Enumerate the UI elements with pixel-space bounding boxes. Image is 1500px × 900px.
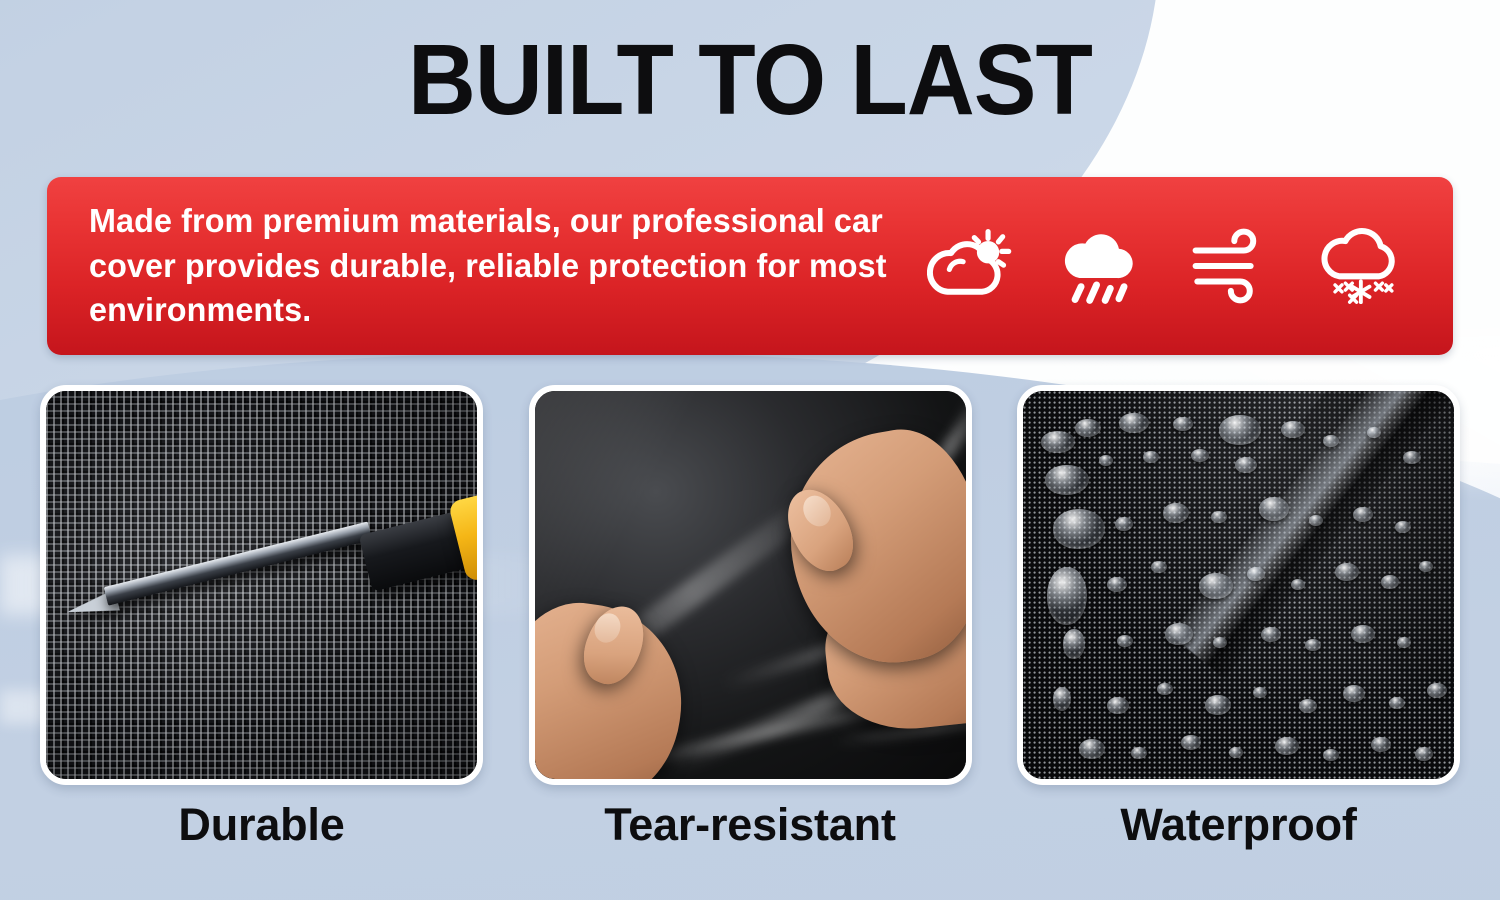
feature-caption-waterproof: Waterproof: [1017, 799, 1460, 851]
water-droplet: [1163, 503, 1189, 523]
water-droplet: [1107, 577, 1127, 592]
water-droplet: [1053, 687, 1071, 711]
water-droplet: [1353, 507, 1373, 522]
water-droplet: [1173, 417, 1193, 431]
water-droplet: [1119, 413, 1149, 433]
woven-mesh-fabric-with-screwdriver-photo: [40, 385, 483, 785]
water-droplet: [1199, 573, 1233, 599]
water-droplet: [1165, 623, 1193, 645]
water-droplet: [1281, 421, 1305, 438]
water-droplet: [1079, 739, 1105, 759]
feature-caption-durable: Durable: [40, 799, 483, 851]
snow-cloud-icon: [1317, 226, 1403, 306]
water-droplet: [1299, 699, 1317, 713]
banner-text: Made from premium materials, our profess…: [89, 199, 910, 334]
feature-card-row: Durable: [40, 385, 1460, 851]
feature-caption-tear-resistant: Tear-resistant: [529, 799, 972, 851]
water-droplet: [1261, 627, 1281, 642]
hands-stretching-black-fabric-photo: [529, 385, 972, 785]
water-droplet: [1389, 697, 1405, 709]
water-droplet: [1403, 451, 1421, 464]
water-droplet: [1115, 517, 1133, 531]
rain-cloud-icon: [1057, 226, 1143, 306]
water-droplet: [1131, 747, 1147, 759]
water-droplet: [1275, 737, 1299, 755]
water-droplet: [1211, 511, 1227, 523]
description-banner: Made from premium materials, our profess…: [47, 177, 1453, 355]
water-beads-on-fabric-photo: [1017, 385, 1460, 785]
feature-card-waterproof: Waterproof: [1017, 385, 1460, 851]
water-droplet: [1323, 435, 1339, 447]
water-droplet: [1053, 509, 1105, 549]
water-droplet: [1371, 737, 1391, 752]
water-droplet: [1047, 567, 1087, 625]
water-droplet: [1381, 575, 1399, 589]
water-droplet: [1291, 579, 1305, 590]
water-droplet: [1157, 683, 1173, 695]
water-droplet: [1041, 431, 1075, 453]
feature-card-tear-resistant: Tear-resistant: [529, 385, 972, 851]
water-droplet: [1351, 625, 1375, 643]
water-droplet: [1151, 561, 1167, 573]
water-droplet: [1235, 457, 1257, 473]
water-droplet: [1419, 561, 1433, 572]
water-droplet: [1343, 685, 1365, 702]
water-droplet: [1045, 465, 1089, 495]
water-droplet: [1099, 455, 1113, 466]
water-droplet: [1259, 497, 1289, 521]
water-droplet: [1397, 637, 1411, 648]
water-droplet: [1213, 637, 1227, 648]
water-droplet: [1191, 449, 1209, 462]
water-droplet: [1367, 427, 1381, 438]
water-droplet: [1219, 415, 1261, 445]
water-droplet: [1309, 515, 1323, 526]
water-droplet: [1117, 635, 1133, 647]
water-droplet: [1229, 747, 1243, 758]
water-droplet: [1323, 749, 1339, 761]
water-droplet: [1143, 451, 1159, 463]
water-droplet: [1427, 683, 1447, 698]
water-droplet: [1075, 419, 1101, 437]
water-droplet: [1247, 567, 1265, 581]
weather-icon-group: [927, 226, 1427, 306]
water-droplet: [1181, 735, 1201, 750]
water-droplet: [1335, 563, 1359, 581]
water-droplet: [1107, 697, 1129, 714]
water-droplet: [1395, 521, 1411, 533]
partly-cloudy-sun-icon: [927, 226, 1013, 306]
water-droplet: [1305, 639, 1321, 651]
water-droplet: [1415, 747, 1433, 761]
infographic-root: BUILT TO LAST Made from premium material…: [0, 0, 1500, 900]
water-droplet: [1063, 629, 1085, 659]
water-droplet: [1205, 695, 1231, 715]
page-title: BUILT TO LAST: [45, 26, 1455, 134]
feature-card-durable: Durable: [40, 385, 483, 851]
wind-icon: [1187, 226, 1273, 306]
water-droplet: [1253, 687, 1267, 698]
